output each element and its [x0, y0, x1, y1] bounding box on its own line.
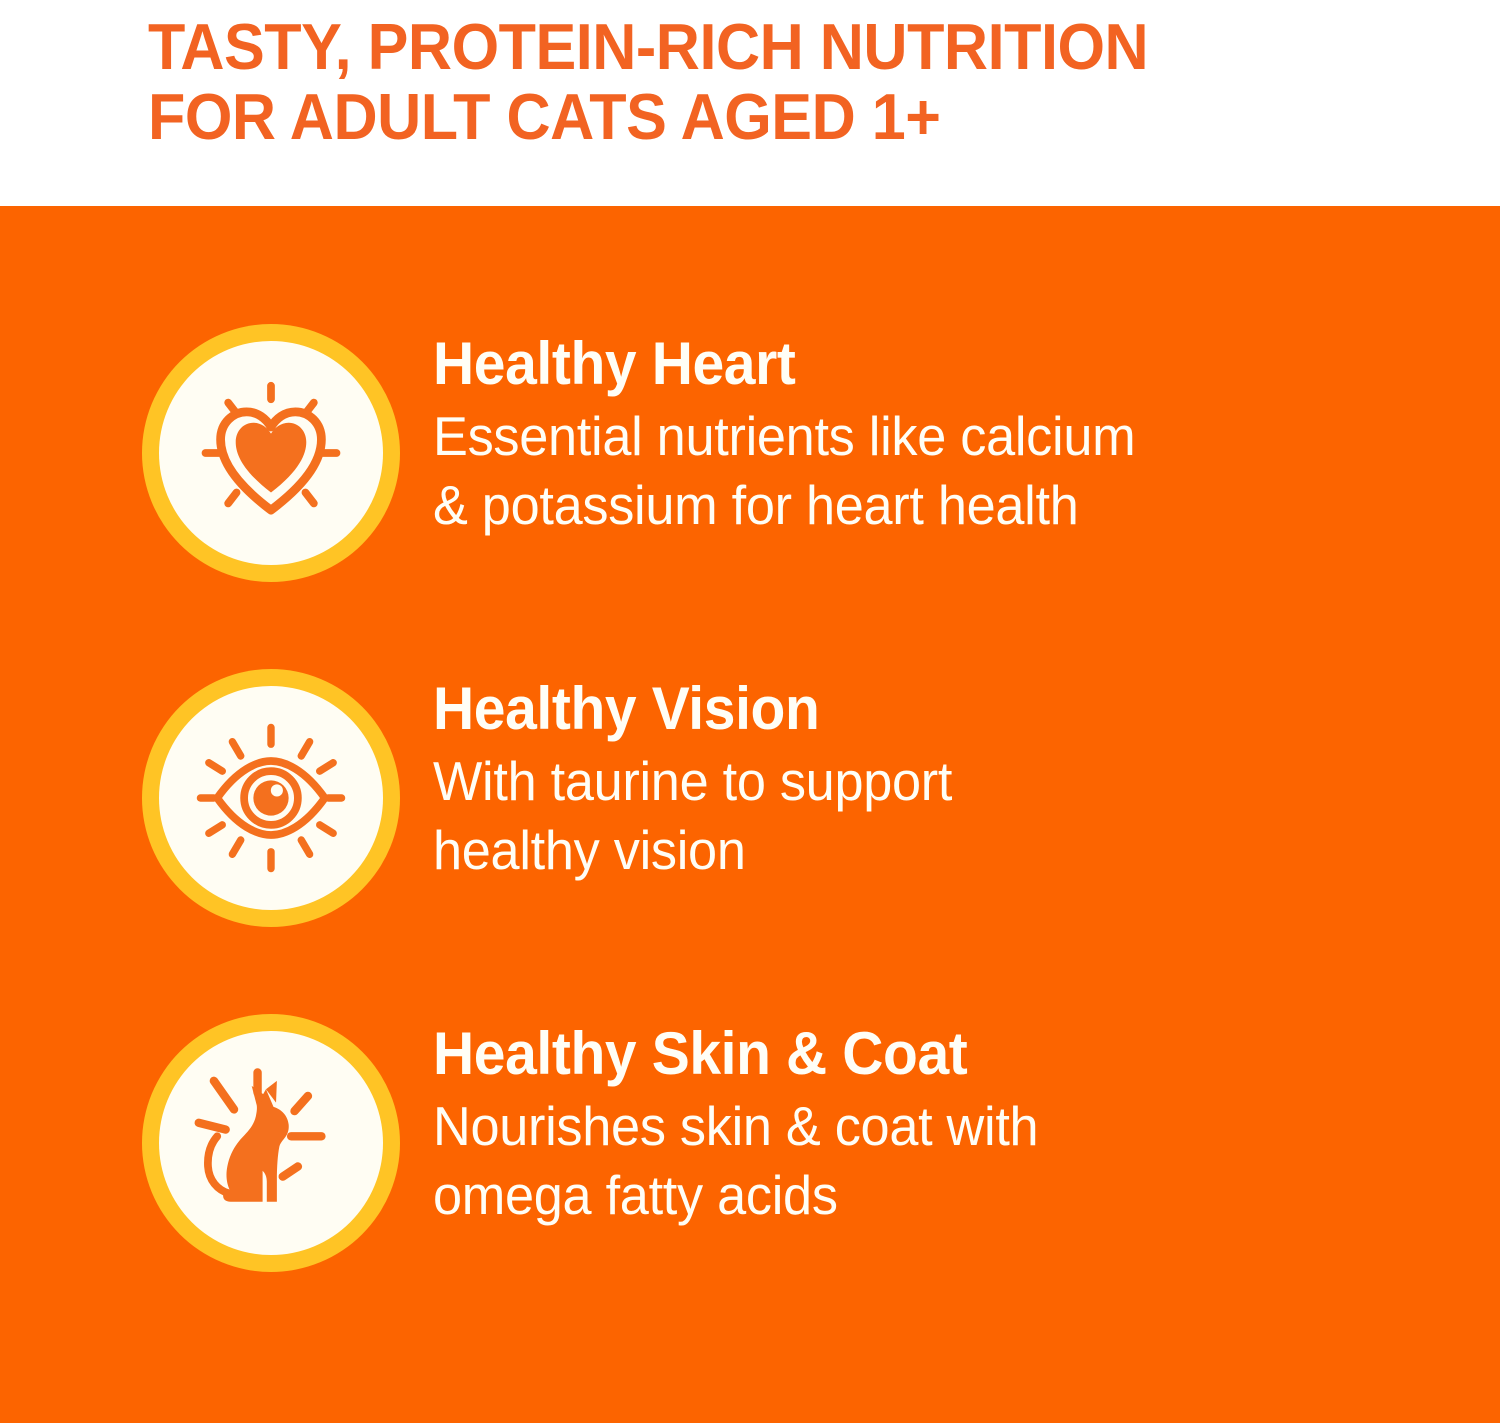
feature-description: With taurine to support healthy vision: [433, 747, 1345, 886]
feature-icon-badge: [142, 669, 400, 927]
feature-panel: Healthy Heart Essential nutrients like c…: [0, 206, 1500, 1423]
feature-title: Healthy Heart: [433, 332, 1345, 396]
radiant-cat-icon: [187, 1059, 355, 1227]
feature-text-block: Healthy Heart Essential nutrients like c…: [433, 324, 1393, 540]
badge-inner-circle: [159, 341, 383, 565]
feature-row: Healthy Skin & Coat Nourishes skin & coa…: [0, 1014, 1500, 1272]
radiant-eye-icon: [187, 714, 355, 882]
feature-icon-badge: [142, 324, 400, 582]
feature-text-block: Healthy Skin & Coat Nourishes skin & coa…: [433, 1014, 1393, 1230]
feature-list: Healthy Heart Essential nutrients like c…: [0, 206, 1500, 1423]
feature-text-block: Healthy Vision With taurine to support h…: [433, 669, 1393, 885]
badge-inner-circle: [159, 1031, 383, 1255]
badge-inner-circle: [159, 686, 383, 910]
headline-text: TASTY, PROTEIN-RICH NUTRITION FOR ADULT …: [148, 12, 1325, 152]
eye-highlight: [271, 784, 283, 796]
cat-tail: [208, 1136, 229, 1193]
eye-pupil: [253, 780, 288, 815]
radiant-heart-icon: [187, 369, 355, 537]
feature-title: Healthy Vision: [433, 677, 1345, 741]
feature-description: Essential nutrients like calcium & potas…: [433, 402, 1345, 541]
marketing-infographic: TASTY, PROTEIN-RICH NUTRITION FOR ADULT …: [0, 0, 1500, 1423]
feature-row: Healthy Heart Essential nutrients like c…: [0, 324, 1500, 582]
feature-description: Nourishes skin & coat with omega fatty a…: [433, 1092, 1345, 1231]
feature-icon-badge: [142, 1014, 400, 1272]
feature-title: Healthy Skin & Coat: [433, 1022, 1345, 1086]
feature-row: Healthy Vision With taurine to support h…: [0, 669, 1500, 927]
headline-band: TASTY, PROTEIN-RICH NUTRITION FOR ADULT …: [0, 0, 1500, 206]
heart-fill: [236, 423, 307, 493]
